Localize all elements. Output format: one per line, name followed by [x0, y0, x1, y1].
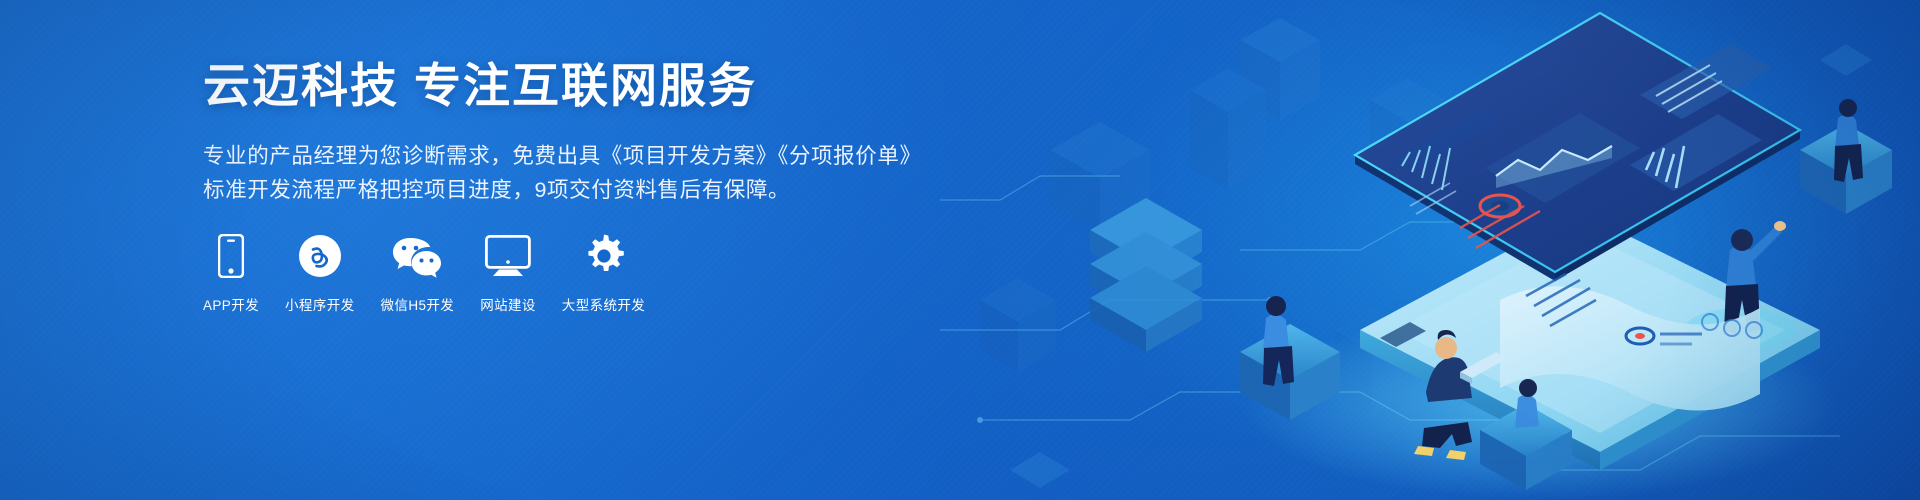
mini-program-icon — [298, 232, 342, 280]
server-stack-blocks — [1090, 198, 1202, 352]
gear-icon — [582, 232, 626, 280]
service-item-large-system[interactable]: 大型系统开发 — [562, 232, 645, 314]
service-item-website[interactable]: 网站建设 — [480, 232, 536, 314]
service-label: 微信H5开发 — [381, 294, 455, 314]
mobile-phone-icon — [218, 232, 244, 280]
subtitle-line-2: 标准开发流程严格把控项目进度，9项交付资料售后有保障。 — [203, 173, 903, 208]
person-on-cube-right — [1800, 99, 1892, 214]
service-label: 网站建设 — [480, 294, 536, 314]
service-label: 小程序开发 — [285, 294, 355, 314]
monitor-icon — [485, 232, 531, 280]
service-item-mini-program[interactable]: 小程序开发 — [285, 232, 355, 314]
service-list: APP开发 小程序开发 微信 — [203, 232, 645, 314]
page-title: 云迈科技 专注互联网服务 — [203, 60, 903, 113]
wechat-icon — [392, 232, 442, 280]
service-item-app[interactable]: APP开发 — [203, 232, 259, 314]
subtitle-line-1: 专业的产品经理为您诊断需求，免费出具《项目开发方案》《分项报价单》 — [203, 144, 922, 168]
banner-copy: 云迈科技 专注互联网服务 专业的产品经理为您诊断需求，免费出具《项目开发方案》《… — [203, 60, 903, 208]
banner-subtitle: 专业的产品经理为您诊断需求，免费出具《项目开发方案》《分项报价单》 标准开发流程… — [203, 139, 903, 209]
isometric-illustration — [940, 0, 1920, 500]
service-label: 大型系统开发 — [562, 294, 645, 314]
service-label: APP开发 — [203, 294, 259, 314]
hero-banner: 云迈科技 专注互联网服务 专业的产品经理为您诊断需求，免费出具《项目开发方案》《… — [0, 0, 1920, 500]
service-item-wechat-h5[interactable]: 微信H5开发 — [381, 232, 455, 314]
